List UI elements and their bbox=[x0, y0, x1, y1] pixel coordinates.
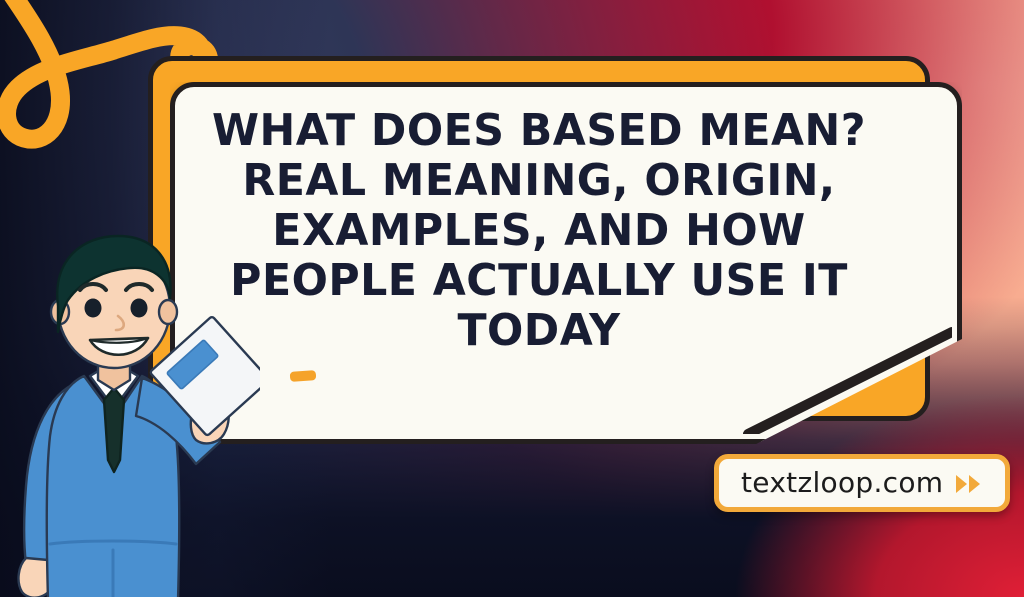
title-line-5: TODAY bbox=[189, 306, 889, 356]
motion-dash-icon bbox=[290, 370, 317, 382]
poster-canvas: WHAT DOES BASED MEAN? REAL MEANING, ORIG… bbox=[0, 0, 1024, 597]
title-line-1: WHAT DOES BASED MEAN? bbox=[189, 106, 889, 156]
website-badge[interactable]: textzloop.com bbox=[714, 454, 1010, 512]
title-line-4: PEOPLE ACTUALLY USE IT bbox=[189, 256, 889, 306]
headline-card: WHAT DOES BASED MEAN? REAL MEANING, ORIG… bbox=[148, 56, 938, 438]
title-line-2: REAL MEANING, ORIGIN, bbox=[189, 156, 889, 206]
businessman-mascot-illustration bbox=[10, 228, 260, 597]
website-badge-label: textzloop.com bbox=[741, 469, 943, 497]
title-line-3: EXAMPLES, AND HOW bbox=[189, 206, 889, 256]
double-chevron-right-icon bbox=[953, 472, 983, 496]
page-title: WHAT DOES BASED MEAN? REAL MEANING, ORIG… bbox=[189, 106, 889, 356]
